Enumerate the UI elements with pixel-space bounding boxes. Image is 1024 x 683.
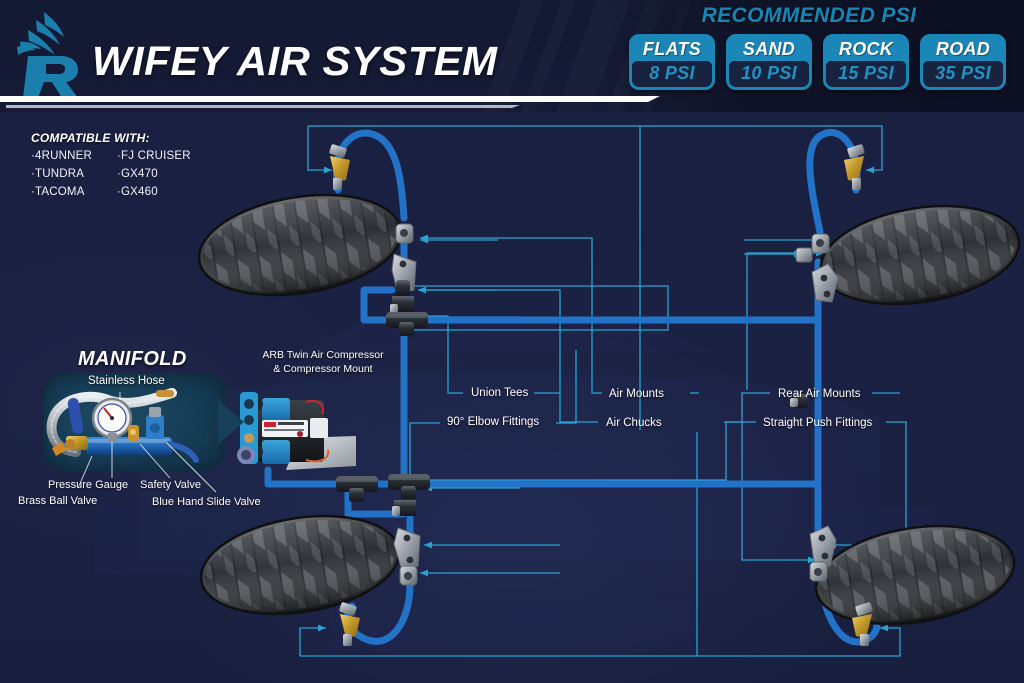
compressor-label: ARB Twin Air Compressor & Compressor Mou… xyxy=(252,348,394,376)
manifold-illustration xyxy=(0,0,1024,683)
callout-union-tees: Union Tees xyxy=(471,387,528,399)
manifold-label-brass-ball-valve: Brass Ball Valve xyxy=(18,495,97,507)
compressor-label-line1: ARB Twin Air Compressor xyxy=(252,348,394,362)
compressor-label-line2: & Compressor Mount xyxy=(252,362,394,376)
manifold-label-safety-valve: Safety Valve xyxy=(140,479,201,491)
infographic-root: WIFEY AIR SYSTEM RECOMMENDED PSI FLATS 8… xyxy=(0,0,1024,683)
callout-air-chucks: Air Chucks xyxy=(606,417,662,429)
callout-elbow-fittings: 90° Elbow Fittings xyxy=(447,416,539,428)
callout-rear-air-mounts: Rear Air Mounts xyxy=(778,388,860,400)
callout-air-mounts: Air Mounts xyxy=(609,388,664,400)
manifold-label-stainless-hose: Stainless Hose xyxy=(88,375,165,387)
callout-straight-push-fittings: Straight Push Fittings xyxy=(763,417,872,429)
manifold-label-pressure-gauge: Pressure Gauge xyxy=(48,479,128,491)
manifold-label-blue-hand-slide-valve: Blue Hand Slide Valve xyxy=(152,496,261,508)
